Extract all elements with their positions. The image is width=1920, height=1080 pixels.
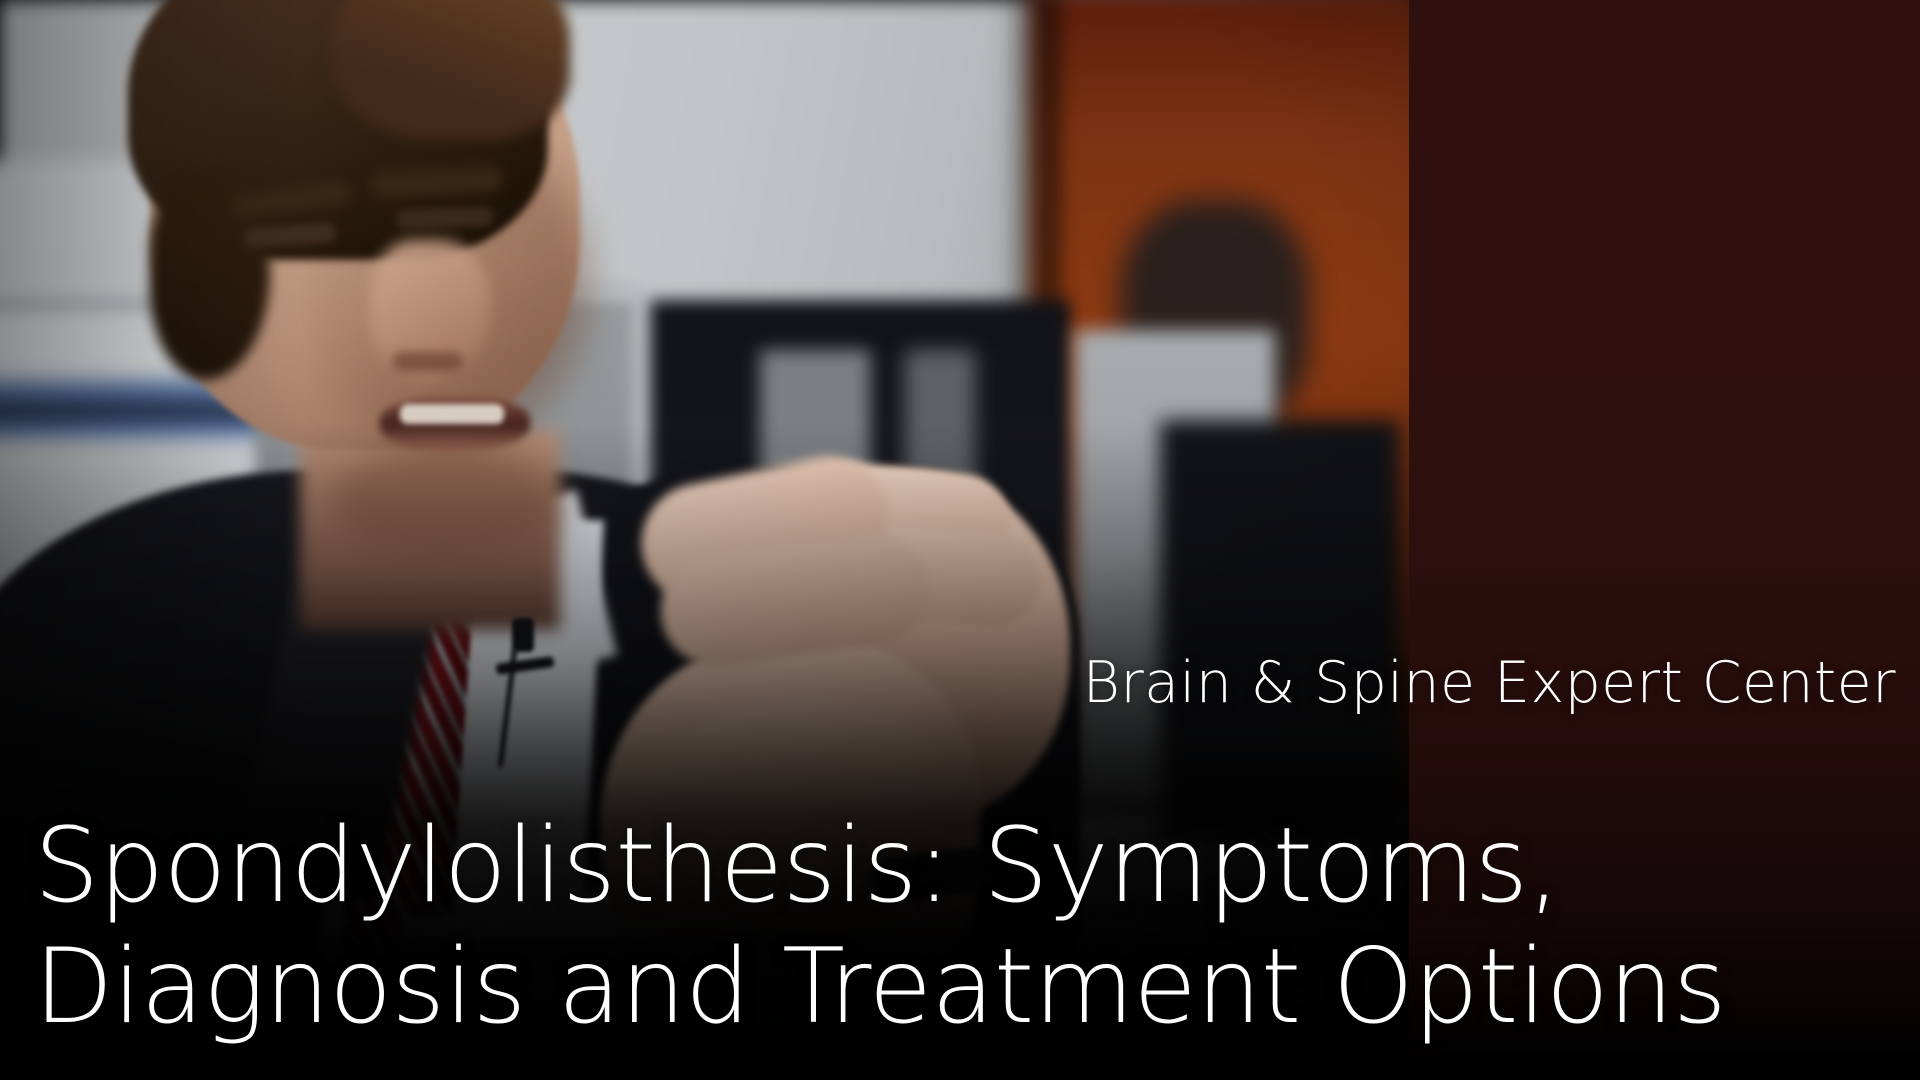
letterbox-bottom-bar [0, 1054, 1920, 1080]
video-thumbnail-stage: Brain & Spine Expert Center Spondylolist… [0, 0, 1920, 1080]
video-title-line-1: Spondylolisthesis: Symptoms, [34, 806, 1726, 927]
video-title-line-2: Diagnosis and Treatment Options [34, 927, 1726, 1048]
video-title: Spondylolisthesis: Symptoms, Diagnosis a… [34, 806, 1726, 1047]
brand-tagline: Brain & Spine Expert Center [1083, 655, 1896, 712]
